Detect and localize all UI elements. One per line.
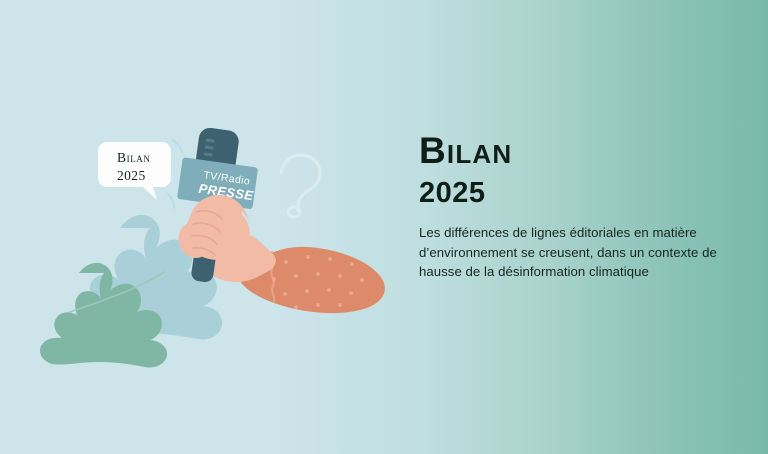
bubble-text-bilan: Bilan: [117, 150, 151, 165]
bubble-text-year: 2025: [117, 168, 146, 183]
headline-block: Bilan 2025 Les différences de lignes édi…: [419, 131, 749, 282]
question-mark-icon: [281, 155, 320, 217]
page-title: Bilan: [419, 131, 749, 171]
illustration: Bilan 2025: [0, 0, 400, 454]
bilan-2025-banner: Bilan 2025: [0, 0, 768, 454]
page-subtitle: Les différences de lignes éditoriales en…: [419, 223, 741, 282]
speech-bubble: Bilan 2025: [98, 140, 182, 208]
page-title-year: 2025: [419, 176, 749, 210]
